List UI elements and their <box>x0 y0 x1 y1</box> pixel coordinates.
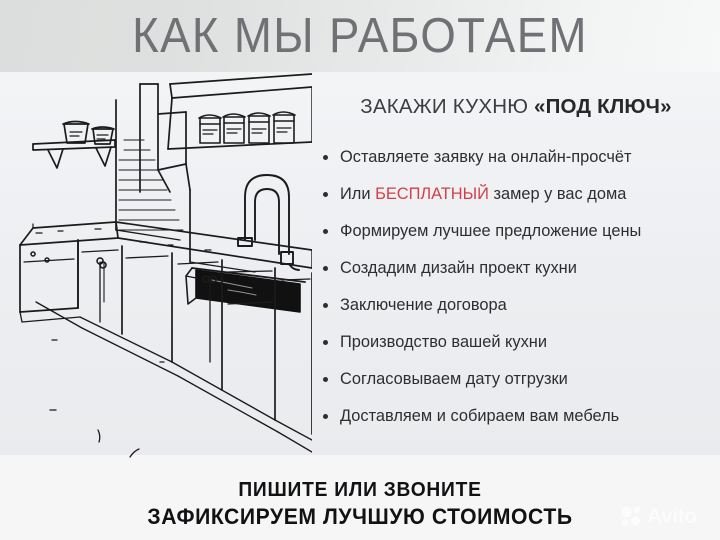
bullet-dot-icon <box>323 340 328 345</box>
step-text: Заключение договора <box>340 296 507 314</box>
footer-call-to-action: ПИШИТЕ ИЛИ ЗВОНИТЕ ЗАФИКСИРУЕМ ЛУЧШУЮ СТ… <box>0 478 720 530</box>
step-text-before: Или <box>340 185 375 203</box>
footer-line-2: ЗАФИКСИРУЕМ ЛУЧШУЮ СТОИМОСТЬ <box>14 503 705 530</box>
list-item: Или БЕСПЛАТНЫЙ замер у вас дома <box>316 183 720 220</box>
kitchen-sketch-illustration <box>0 72 312 460</box>
bullet-dot-icon <box>323 266 328 271</box>
step-text-highlight: БЕСПЛАТНЫЙ <box>375 185 489 203</box>
list-item: Оставляете заявку на онлайн-просчёт <box>316 146 720 183</box>
subtitle-emphasis: «ПОД КЛЮЧ» <box>534 95 672 118</box>
footer-line-1: ПИШИТЕ ИЛИ ЗВОНИТЕ <box>14 478 705 503</box>
list-item: Заключение договора <box>316 294 720 331</box>
bullet-dot-icon <box>323 414 328 419</box>
list-item: Производство вашей кухни <box>316 331 720 368</box>
bullet-dot-icon <box>323 303 328 308</box>
list-item: Согласовываем дату отгрузки <box>316 368 720 405</box>
list-item: Доставляем и собираем вам мебель <box>316 405 720 442</box>
bullet-dot-icon <box>323 377 328 382</box>
step-text: Доставляем и собираем вам мебель <box>340 407 619 425</box>
step-text: Оставляете заявку на онлайн-просчёт <box>340 148 632 166</box>
step-text: Производство вашей кухни <box>340 333 547 351</box>
page-title: КАК МЫ РАБОТАЕМ <box>25 6 695 66</box>
step-text: Создадим дизайн проект кухни <box>340 259 577 277</box>
process-steps-list: Оставляете заявку на онлайн-просчёт Или … <box>316 146 720 442</box>
subtitle-prefix: ЗАКАЖИ КУХНЮ <box>360 95 534 118</box>
poster-canvas: КАК МЫ РАБОТАЕМ <box>0 0 720 540</box>
step-text-after: замер у вас дома <box>489 185 626 203</box>
bullet-dot-icon <box>323 155 328 160</box>
list-item: Создадим дизайн проект кухни <box>316 257 720 294</box>
step-text: Согласовываем дату отгрузки <box>340 370 568 388</box>
list-item: Формируем лучшее предложение цены <box>316 220 720 257</box>
bullet-dot-icon <box>323 229 328 234</box>
subtitle: ЗАКАЖИ КУХНЮ «ПОД КЛЮЧ» <box>312 94 720 120</box>
bullet-dot-icon <box>323 192 328 197</box>
step-text: Формируем лучшее предложение цены <box>340 222 641 240</box>
